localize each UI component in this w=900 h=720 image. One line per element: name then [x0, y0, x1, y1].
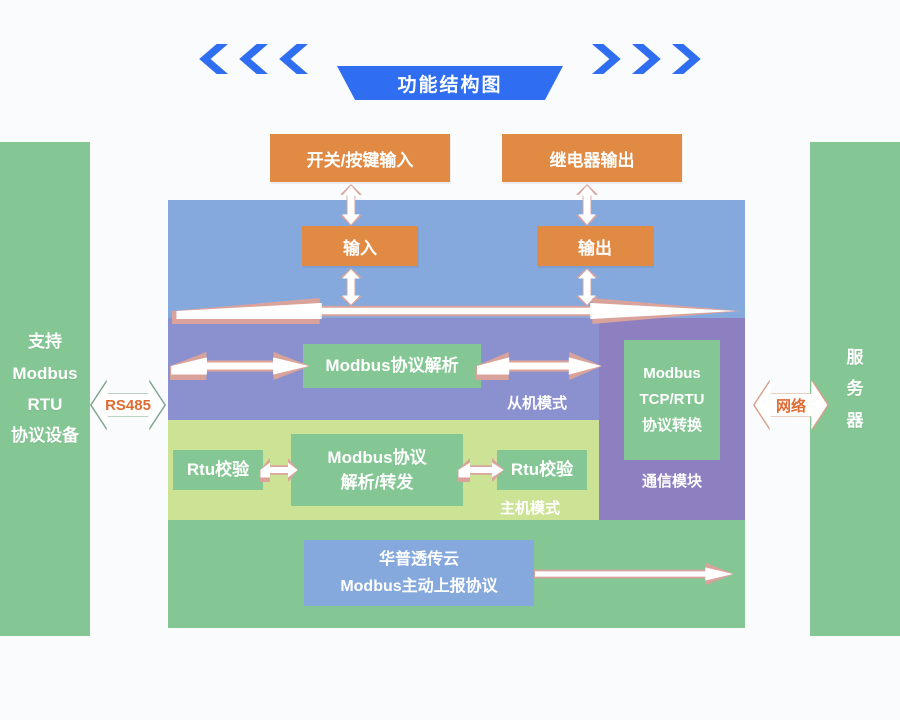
arrow-switch-to-input: [340, 184, 362, 226]
slave-mode-label: 从机模式: [507, 392, 567, 413]
protocol-conversion-box: Modbus TCP/RTU 协议转换: [624, 340, 720, 460]
chevron-left-icon-2: [238, 44, 268, 74]
chevron-right-icon-3: [672, 44, 702, 74]
right-panel-line-3: 器: [847, 405, 864, 436]
chevron-left-icon-1: [198, 44, 228, 74]
rtu-check-left-box: Rtu校验: [173, 450, 263, 490]
rtu-check-right-box: Rtu校验: [497, 450, 587, 490]
diagram-canvas: 功能结构图 支持 Modbus RTU 协议设备 服 务 器 RS485 网络 …: [0, 0, 900, 720]
input-box: 输入: [302, 226, 418, 266]
arrow-relay-to-output: [576, 184, 598, 226]
cloud-box-line-2: Modbus主动上报协议: [340, 573, 497, 600]
rs485-connector-arrow: RS485: [90, 376, 166, 434]
rs485-label: RS485: [105, 397, 151, 414]
right-panel-line-1: 服: [847, 342, 864, 373]
arrow-internal-bus: [172, 298, 740, 324]
title-banner: 功能结构图: [0, 30, 900, 88]
left-panel-line-2: Modbus: [12, 358, 77, 389]
left-panel-line-3: RTU: [28, 389, 63, 420]
relay-output-box: 继电器输出: [502, 134, 682, 182]
modbus-protocol-parse-box: Modbus协议解析: [303, 344, 481, 388]
left-panel-line-1: 支持: [28, 326, 62, 357]
arrow-rtu-left-link: [260, 458, 298, 482]
arrow-slave-left: [170, 352, 310, 380]
chevron-right-icon-2: [632, 44, 662, 74]
chevron-left-icon-3: [278, 44, 308, 74]
network-connector-arrow: 网络: [753, 376, 829, 434]
network-label: 网络: [776, 395, 806, 416]
protocol-conversion-line-2: TCP/RTU: [640, 387, 705, 413]
cloud-box-line-1: 华普透传云: [379, 546, 459, 573]
arrow-fill: [535, 567, 733, 580]
right-panel-line-2: 务: [847, 373, 864, 404]
modbus-parse-forward-box: Modbus协议 解析/转发: [291, 434, 463, 506]
switch-input-box: 开关/按键输入: [270, 134, 450, 182]
left-device-panel: 支持 Modbus RTU 协议设备: [0, 142, 90, 636]
modbus-forward-line-2: 解析/转发: [341, 470, 414, 496]
arrow-cloud-to-server: [534, 563, 734, 585]
output-box: 输出: [537, 226, 653, 266]
chevron-right-icon-1: [592, 44, 622, 74]
protocol-conversion-line-3: 协议转换: [642, 413, 702, 439]
arrow-slave-right: [476, 352, 602, 380]
left-panel-line-4: 协议设备: [11, 420, 79, 451]
protocol-conversion-line-1: Modbus: [643, 361, 701, 387]
communication-module-block: Modbus TCP/RTU 协议转换 通信模块: [599, 318, 745, 520]
arrow-rtu-right-link: [458, 458, 504, 482]
master-mode-label: 主机模式: [500, 497, 560, 518]
modbus-forward-line-1: Modbus协议: [327, 445, 426, 471]
communication-module-label: 通信模块: [599, 470, 745, 491]
page-title: 功能结构图: [337, 66, 563, 100]
cloud-report-box: 华普透传云 Modbus主动上报协议: [304, 540, 534, 606]
